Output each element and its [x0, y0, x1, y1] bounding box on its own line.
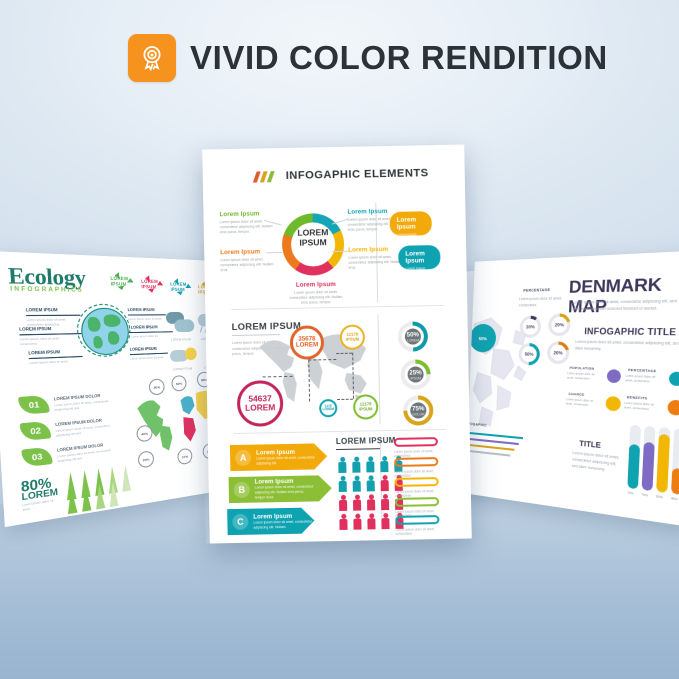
pill-3	[395, 477, 439, 487]
recycle-badge: LOREMIPSUM	[108, 270, 138, 291]
bar-4	[671, 428, 679, 495]
donut-label-4: Lorem Ipsum Lorem ipsum dolor sit amet, …	[348, 246, 402, 271]
percent-donut-20b: 20%	[547, 341, 570, 364]
legend-label-percentage: PERCENTAGE	[628, 368, 657, 374]
feature-header: VIVID COLOR RENDITION	[128, 34, 608, 82]
denmark-subtitle-body: Lorem ipsum dolor sit amet, consectetur …	[575, 340, 679, 355]
cloud-icon	[174, 319, 194, 332]
chart-title: TITLE	[579, 440, 601, 450]
people-section-heading: LOREM IPSUM	[336, 436, 396, 446]
percentage-body: Lorem ipsum dolor sit amet, consectetur.	[519, 296, 563, 309]
award-badge-icon	[128, 34, 176, 82]
person-icon	[378, 456, 390, 472]
product-image-canvas: VIVID COLOR RENDITION Ecology INFOGRAPHI…	[0, 0, 679, 679]
banner-teal[interactable]: Lorem Ipsum Lorem ipsum dolor sit amet, …	[398, 245, 440, 270]
legend-dot-change	[605, 396, 621, 412]
legend-dot-benefits	[667, 400, 679, 416]
leaf-item: 03	[21, 446, 52, 467]
person-icon	[364, 456, 376, 472]
person-icon	[365, 513, 377, 529]
ecology-subtitle: INFOGRAPHICS	[10, 286, 84, 294]
infographic-elements-poster[interactable]: INFOGAPHIC ELEMENTS LOREM IPSUM Lorem Ip…	[202, 145, 472, 544]
bar-2	[642, 426, 656, 491]
pill-caption-5: Lorem ipsum dolor sit amet, consectetur.	[396, 527, 442, 536]
pill-1	[394, 437, 438, 447]
person-icon	[379, 513, 391, 529]
map-percent-marker: 20%	[138, 450, 155, 468]
pill-4	[395, 497, 439, 507]
map-percent-marker: 10%	[177, 448, 193, 466]
person-icon	[351, 514, 363, 530]
percentage-heading: PERCENTAGE	[523, 288, 550, 293]
bar-label-1: 70%	[627, 490, 634, 495]
page-title: VIVID COLOR RENDITION	[190, 39, 608, 77]
person-icon	[365, 494, 377, 510]
donut-label-5: Lorem Ipsum Lorem ipsum dolor sit amet, …	[287, 281, 345, 306]
person-icon	[351, 495, 363, 511]
arrow-banner-a[interactable]: A Lorem IpsumLorem ipsum dolor sit amet,…	[230, 443, 327, 471]
legend-dot-percentage	[669, 372, 679, 387]
floor-gradient-lower	[0, 549, 679, 679]
legend-label-benefits: BENEFITS	[627, 395, 648, 401]
person-icon	[379, 494, 391, 510]
leaf-item: 01	[18, 395, 50, 415]
legend-body: Lorem ipsum dolor sit amet, consectetur.	[567, 372, 600, 383]
bar-label-2: 75%	[641, 492, 648, 497]
legend-body: Lorem ipsum dolor sit amet, consectetur.	[625, 374, 662, 386]
pill-5	[395, 515, 439, 525]
slash-logo-icon	[255, 171, 277, 182]
poster-title: INFOGAPHIC ELEMENTS	[286, 167, 429, 182]
bar-1	[627, 425, 641, 490]
donut-center-label: LOREM IPSUM	[282, 227, 344, 248]
bar-3	[656, 427, 670, 493]
person-icon	[336, 457, 348, 473]
denmark-body: Lorem ipsum dolor sit amet, consectetur …	[572, 299, 679, 313]
chart-body: Lorem ipsum dolor sit amet, consectetur …	[572, 451, 620, 475]
denmark-subtitle: INFOGAPHIC TITLE	[584, 327, 676, 338]
recycle-badge: LOREMIPSUM	[168, 276, 195, 296]
percent-donut-50: 50%LOREM	[398, 321, 429, 352]
person-icon	[365, 475, 377, 491]
pill-2	[394, 457, 438, 467]
percent-donut-25: 25%IPSUM	[400, 359, 431, 390]
arrow-banner-b[interactable]: B Lorem IpsumLorem ipsum dolor sit amet,…	[229, 475, 332, 503]
denmark-map-poster[interactable]: 50% PERCENTAGE Lorem ipsum dolor sit ame…	[465, 250, 679, 528]
legend-dot-population	[607, 369, 621, 383]
legend-label-population: POPULATION	[570, 366, 595, 371]
arrow-banner-c[interactable]: C Lorem IpsumLorem ipsum dolor sit amet,…	[227, 507, 314, 535]
legend-label-change: CHANGE	[568, 392, 584, 397]
person-icon	[379, 475, 391, 491]
donut-label-1: Lorem Ipsum Lorem ipsum dolor sit amet, …	[219, 210, 273, 235]
person-icon	[337, 495, 349, 511]
percent-donut-75: 75%DOLOR	[403, 395, 434, 426]
bar-label-4: 40%	[671, 496, 678, 502]
legend-body: Lorem ipsum dolor sit amet, consectetur.	[624, 402, 661, 414]
person-icon	[337, 476, 349, 492]
leaf-item: 02	[20, 421, 51, 442]
poster-title-row: INFOGAPHIC ELEMENTS	[255, 167, 429, 182]
person-icon	[350, 457, 362, 473]
banner-orange[interactable]: Lorem Ipsum Lorem ipsum dolor sit amet, …	[389, 211, 431, 236]
person-icon	[351, 476, 363, 492]
legend-body: Lorem ipsum dolor sit amet, consectetur.	[566, 398, 599, 410]
bar-label-3: 90%	[656, 494, 663, 500]
person-icon	[337, 514, 349, 530]
sun-icon	[185, 347, 197, 360]
recycle-badge: LOREMIPSUM	[139, 273, 167, 293]
